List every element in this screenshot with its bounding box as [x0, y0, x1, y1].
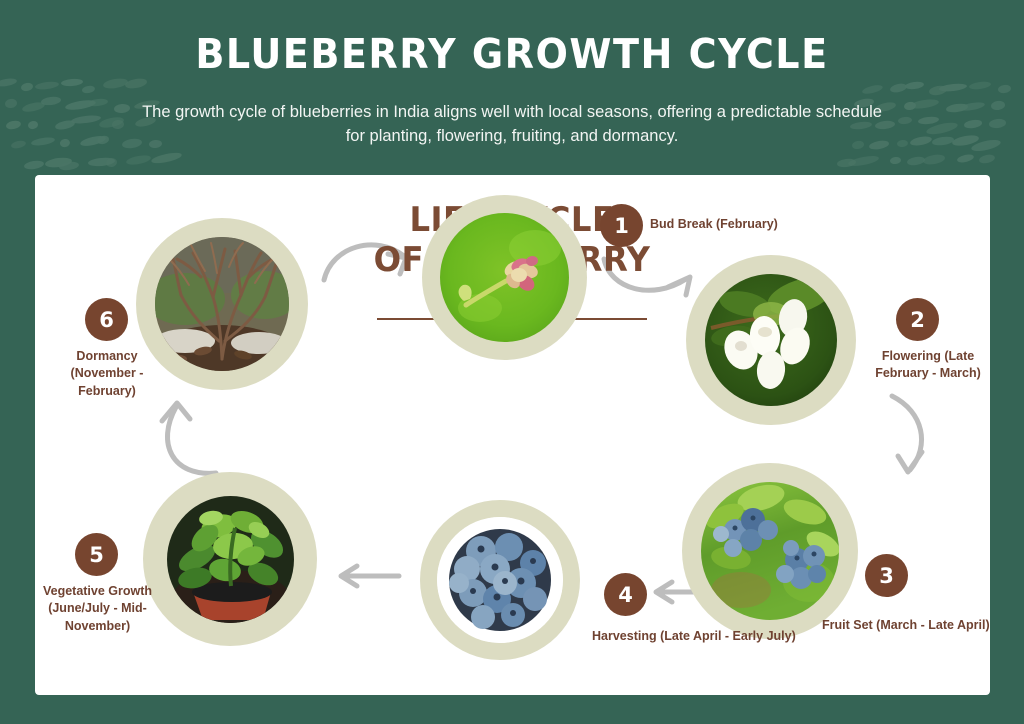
stage-6-caption: Dormancy (November - February) — [48, 348, 166, 400]
stage-2-caption-line1: Flowering (Late — [868, 348, 988, 365]
stage-5-caption-line1: Vegetative Growth — [35, 583, 160, 600]
stage-5-caption: Vegetative Growth (June/July - Mid- Nove… — [35, 583, 160, 635]
stage-6-caption-line3: February) — [48, 383, 166, 400]
stage-5-badge: 5 — [75, 533, 118, 576]
stage-5-caption-line3: November) — [35, 618, 160, 635]
page-subtitle: The growth cycle of blueberries in India… — [132, 101, 892, 149]
header: BLUEBERRY GROWTH CYCLE The growth cycle … — [0, 0, 1024, 149]
stage-6-caption-line2: (November - — [48, 365, 166, 382]
bud-break-photo — [440, 213, 569, 342]
fruit-set-photo — [701, 482, 839, 620]
dormancy-photo — [155, 237, 289, 371]
stage-3-caption: Fruit Set (March - Late April) — [822, 617, 1022, 634]
stage-6-badge: 6 — [85, 298, 128, 341]
vegetative-growth-photo — [167, 496, 294, 623]
page-title: BLUEBERRY GROWTH CYCLE — [36, 30, 988, 78]
stage-1-badge: 1 — [600, 204, 643, 247]
stage-2-caption-line2: February - March) — [868, 365, 988, 382]
stage-2-badge: 2 — [896, 298, 939, 341]
harvesting-photo — [437, 517, 563, 643]
stage-1-caption: Bud Break (February) — [650, 216, 820, 233]
stage-5-caption-line2: (June/July - Mid- — [35, 600, 160, 617]
stage-4-badge: 4 — [604, 573, 647, 616]
stage-3-badge: 3 — [865, 554, 908, 597]
stage-2-caption: Flowering (Late February - March) — [868, 348, 988, 383]
flowering-photo — [705, 274, 837, 406]
stage-6-caption-line1: Dormancy — [48, 348, 166, 365]
stage-4-caption: Harvesting (Late April - Early July) — [592, 628, 822, 645]
